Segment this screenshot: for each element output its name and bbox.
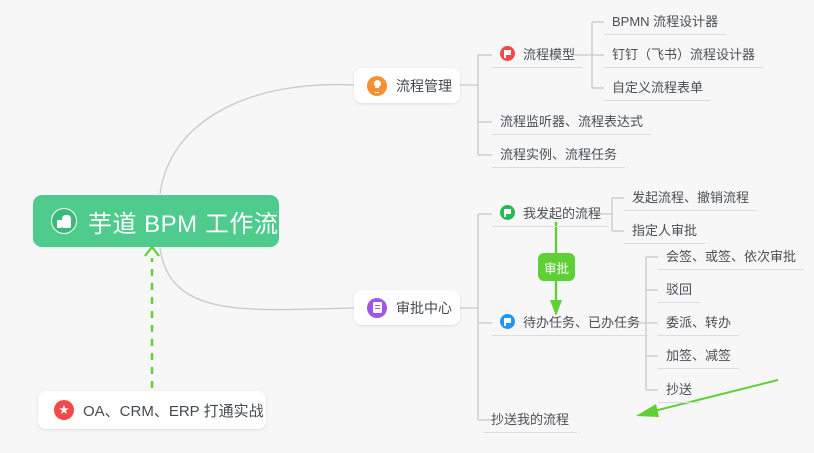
leaf-dingtalk-feishu-designer-label: 钉钉（飞书）流程设计器 <box>612 44 755 63</box>
mindmap-canvas: 芋道 BPM 工作流 流程管理 流程模型 BPMN 流程设计器 钉钉（飞书）流程… <box>0 0 814 453</box>
leaf-cc[interactable]: 抄送 <box>658 379 700 403</box>
leaf-cc-to-me-processes[interactable]: 抄送我的流程 <box>483 409 577 433</box>
leaf-process-model[interactable]: 流程模型 <box>492 44 583 68</box>
leaf-my-initiated-processes[interactable]: 我发起的流程 <box>492 203 609 227</box>
leaf-assignee-approval[interactable]: 指定人审批 <box>624 220 705 244</box>
leaf-start-cancel-process-label: 发起流程、撤销流程 <box>632 187 749 206</box>
leaf-my-initiated-processes-label: 我发起的流程 <box>523 203 601 222</box>
leaf-assignee-approval-label: 指定人审批 <box>632 220 697 239</box>
document-purple-icon <box>367 298 387 318</box>
leaf-add-remove-sign-label: 加签、减签 <box>666 345 731 364</box>
leaf-custom-process-form[interactable]: 自定义流程表单 <box>604 77 711 101</box>
leaf-bpmn-designer-label: BPMN 流程设计器 <box>612 11 718 30</box>
leaf-dingtalk-feishu-designer[interactable]: 钉钉（飞书）流程设计器 <box>604 44 763 68</box>
leaf-countersign-orsign-sequential[interactable]: 会签、或签、依次审批 <box>658 246 804 270</box>
leaf-add-remove-sign[interactable]: 加签、减签 <box>658 345 739 369</box>
leaf-delegate-transfer-label: 委派、转办 <box>666 312 731 331</box>
leaf-reject[interactable]: 驳回 <box>658 279 700 303</box>
leaf-process-listener-expression[interactable]: 流程监听器、流程表达式 <box>492 111 651 135</box>
cc-link-arrowhead <box>636 404 659 417</box>
leaf-cc-label: 抄送 <box>666 379 692 398</box>
leaf-custom-process-form-label: 自定义流程表单 <box>612 77 703 96</box>
leaf-todo-done-tasks-label: 待办任务、已办任务 <box>523 312 640 331</box>
integration-callout-label: OA、CRM、ERP 打通实战 <box>83 400 264 421</box>
root-node[interactable]: 芋道 BPM 工作流 <box>33 195 279 247</box>
leaf-bpmn-designer[interactable]: BPMN 流程设计器 <box>604 11 726 35</box>
leaf-countersign-orsign-sequential-label: 会签、或签、依次审批 <box>666 246 796 265</box>
branch-node-process-management[interactable]: 流程管理 <box>354 68 460 103</box>
approval-pill: 审批 <box>538 253 575 281</box>
leaf-reject-label: 驳回 <box>666 279 692 298</box>
branch-node-approval-center[interactable]: 审批中心 <box>354 290 460 325</box>
integration-arrowhead <box>145 247 159 256</box>
leaf-process-listener-expression-label: 流程监听器、流程表达式 <box>500 111 643 130</box>
branch-node-process-management-label: 流程管理 <box>396 76 452 96</box>
flag-red-icon <box>500 46 515 61</box>
lightbulb-icon <box>367 76 387 96</box>
flag-green-icon <box>500 205 515 220</box>
flag-blue-icon <box>500 314 515 329</box>
thumbs-up-icon <box>51 208 77 234</box>
leaf-process-instance-task[interactable]: 流程实例、流程任务 <box>492 144 625 168</box>
leaf-todo-done-tasks[interactable]: 待办任务、已办任务 <box>492 312 648 336</box>
star-red-icon <box>54 400 74 420</box>
approval-pill-label: 审批 <box>544 258 569 277</box>
leaf-process-instance-task-label: 流程实例、流程任务 <box>500 144 617 163</box>
integration-callout-node[interactable]: OA、CRM、ERP 打通实战 <box>38 391 266 429</box>
branch-node-approval-center-label: 审批中心 <box>396 298 452 318</box>
leaf-cc-to-me-processes-label: 抄送我的流程 <box>491 409 569 428</box>
leaf-start-cancel-process[interactable]: 发起流程、撤销流程 <box>624 187 757 211</box>
leaf-process-model-label: 流程模型 <box>523 44 575 63</box>
root-node-label: 芋道 BPM 工作流 <box>88 204 278 239</box>
leaf-delegate-transfer[interactable]: 委派、转办 <box>658 312 739 336</box>
